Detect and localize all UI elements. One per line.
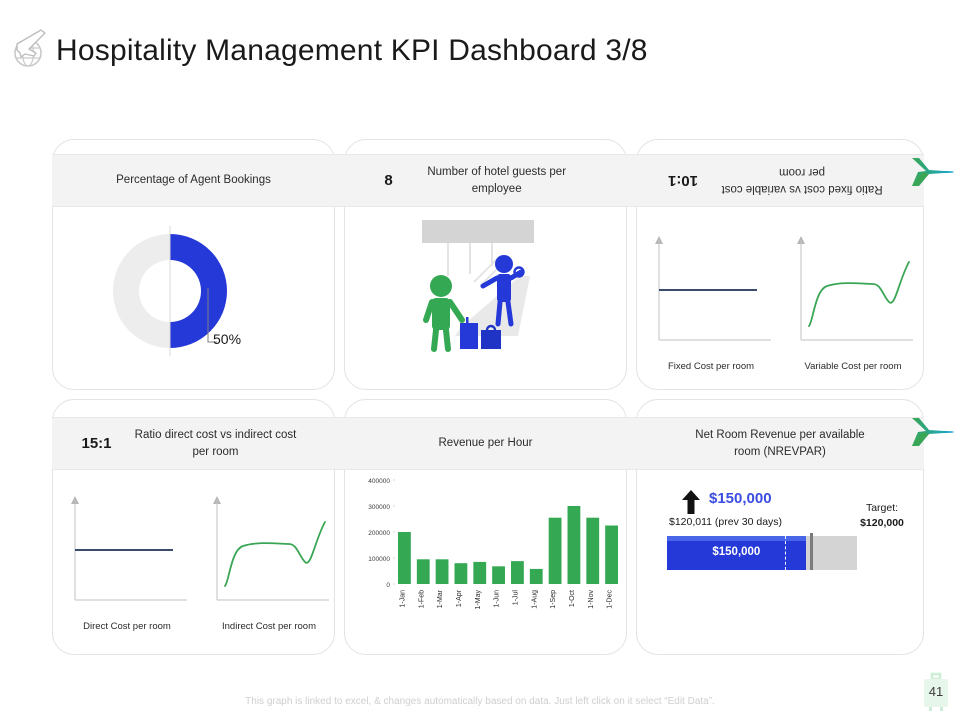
mini-chart-variable-cost[interactable]: Variable Cost per room [787,218,919,378]
band-cell-guests-per-employee: 8 Number of hotel guests per employee [344,155,627,206]
arrow-up-icon [682,490,700,514]
svg-text:200000: 200000 [368,530,390,537]
airplane-icon [910,412,956,452]
page-number: 41 [920,684,952,699]
dashboard-row-2: Direct Cost per room Indirect Cost per r… [52,399,924,655]
nrevpar-target: Target: $120,000 [842,501,922,531]
kpi-value-direct-vs-indirect: 15:1 [81,435,111,452]
page-header: Hospitality Management KPI Dashboard 3/8 [0,0,960,110]
nrevpar-target-label: Target: [866,502,898,514]
mini-chart-fixed-cost-caption: Fixed Cost per room [645,361,777,372]
svg-text:1-Oct: 1-Oct [569,590,576,607]
card-agent-bookings-body: 50% [53,208,334,389]
mini-chart-direct-cost[interactable]: Direct Cost per room [61,478,193,638]
svg-text:1-Dec: 1-Dec [607,590,614,609]
svg-text:100000: 100000 [368,556,390,563]
bar-chart-revenue-per-hour[interactable]: 01000002000003000004000001-Jan1-Feb1-Mar… [349,472,627,652]
card-fixed-vs-variable-body: Fixed Cost per room Variable Cost per ro… [637,208,923,389]
band-cell-nrevpar: Net Room Revenue per available room (NRE… [636,418,924,469]
band-cell-fixed-vs-variable: Ratio fixed cost vs variable cost per ro… [636,155,924,206]
card-nrevpar-body: $150,000 $120,011 (prev 30 days) Target:… [637,468,923,654]
kpi-value-guests-per-employee: 8 [384,172,392,189]
nrevpar-current-value: $150,000 [709,490,772,507]
mini-chart-indirect-cost-caption: Indirect Cost per room [203,621,335,632]
nrevpar-bar-label: $150,000 [667,546,806,558]
svg-text:1-Apr: 1-Apr [456,589,463,607]
hotel-guest-illustration [400,216,570,366]
nrevpar-target-value: $120,000 [860,517,904,529]
nrevpar-progress-bar[interactable]: $150,000 [667,536,857,570]
globe-airplane-logo [8,26,54,72]
mini-chart-direct-cost-caption: Direct Cost per room [61,621,193,632]
card-title-agent-bookings: Percentage of Agent Bookings [116,172,271,189]
kpi-value-fixed-vs-variable: 10:1 [668,172,698,189]
svg-text:1-May: 1-May [475,590,482,610]
card-title-nrevpar: Net Room Revenue per available room (NRE… [690,427,870,460]
svg-text:1-Sep: 1-Sep [550,590,557,609]
nrevpar-target-marker [810,533,813,570]
row-1-header-band: Percentage of Agent Bookings 8 Number of… [52,154,924,207]
svg-text:1-Mar: 1-Mar [437,589,444,608]
nrevpar-previous-value: $120,011 (prev 30 days) [669,516,782,528]
nrevpar-progress-widget[interactable]: $150,000 $120,011 (prev 30 days) Target:… [637,468,923,654]
card-title-fixed-vs-variable: Ratio fixed cost vs variable cost per ro… [712,164,892,197]
dashboard-row-1: 50% [52,139,924,390]
svg-text:1-Aug: 1-Aug [531,590,538,609]
footer-note: This graph is linked to excel, & changes… [0,696,960,707]
mini-chart-indirect-cost[interactable]: Indirect Cost per room [203,478,335,638]
svg-text:1-Feb: 1-Feb [418,590,425,608]
card-title-revenue-per-hour: Revenue per Hour [439,435,533,452]
band-cell-agent-bookings: Percentage of Agent Bookings [52,155,335,206]
page-title: Hospitality Management KPI Dashboard 3/8 [56,34,648,68]
mini-chart-fixed-cost[interactable]: Fixed Cost per room [645,218,777,378]
card-title-direct-vs-indirect: Ratio direct cost vs indirect cost per r… [126,427,306,460]
card-revenue-per-hour-body: 01000002000003000004000001-Jan1-Feb1-Mar… [345,468,626,654]
band-cell-direct-vs-indirect: 15:1 Ratio direct cost vs indirect cost … [52,418,335,469]
row-2-header-band: 15:1 Ratio direct cost vs indirect cost … [52,417,924,470]
svg-text:300000: 300000 [368,504,390,511]
svg-text:1-Jul: 1-Jul [512,590,519,606]
svg-text:400000: 400000 [368,478,390,485]
svg-text:1-Jan: 1-Jan [399,590,406,608]
mini-chart-variable-cost-caption: Variable Cost per room [787,361,919,372]
airplane-icon [910,152,956,192]
card-guests-per-employee-body [345,208,626,389]
donut-value-label: 50% [213,331,241,347]
band-cell-revenue-per-hour: Revenue per Hour [344,418,627,469]
svg-text:1-Jun: 1-Jun [494,590,501,608]
card-title-guests-per-employee: Number of hotel guests per employee [407,164,587,197]
svg-text:0: 0 [386,582,390,589]
card-direct-vs-indirect-body: Direct Cost per room Indirect Cost per r… [53,468,334,654]
svg-text:1-Nov: 1-Nov [588,590,595,609]
